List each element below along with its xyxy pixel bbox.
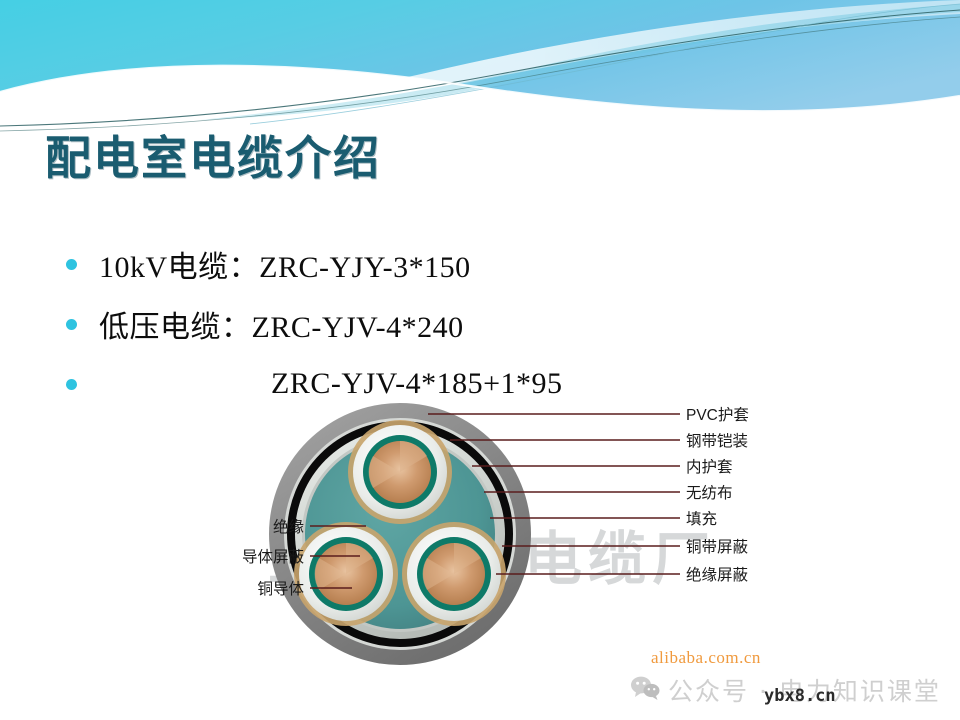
label-pvc-sheath: PVC护套 bbox=[686, 406, 749, 424]
label-copper-tape-shield: 铜带屏蔽 bbox=[686, 538, 749, 556]
list-item: 10kV电缆：ZRC-YJY-3*150 bbox=[66, 234, 726, 294]
slide-canvas: 配电室电缆介绍 10kV电缆：ZRC-YJY-3*150 低压电缆：ZRC-YJ… bbox=[0, 0, 960, 720]
conductor-core-right bbox=[402, 522, 506, 626]
bullet-dot-icon bbox=[66, 319, 77, 330]
label-filler: 填充 bbox=[686, 510, 717, 528]
wechat-icon bbox=[630, 675, 660, 706]
label-inner-sheath: 内护套 bbox=[686, 458, 733, 476]
page-title: 配电室电缆介绍 bbox=[45, 122, 381, 188]
list-item: 低压电缆：ZRC-YJV-4*240 bbox=[66, 294, 726, 354]
conductor-core-top bbox=[348, 420, 452, 524]
site-watermark: ybx8.cn bbox=[764, 686, 836, 706]
bullet-dot-icon bbox=[66, 259, 77, 270]
alibaba-watermark: alibaba.com.cn bbox=[651, 648, 761, 668]
header-banner-decoration bbox=[0, 0, 960, 132]
label-non-woven-fabric: 无纺布 bbox=[686, 484, 733, 502]
bullet-dot-icon bbox=[66, 379, 77, 390]
bullet-text: 低压电缆：ZRC-YJV-4*240 bbox=[99, 302, 464, 346]
label-conductor-shield: 导体屏蔽 bbox=[242, 548, 305, 566]
conductor-core-left bbox=[294, 522, 398, 626]
label-copper-conductor: 铜导体 bbox=[257, 580, 304, 598]
cable-cross-section-diagram: PVC护套 钢带铠装 内护套 无纺布 填充 铜带屏蔽 绝缘屏蔽 绝缘 bbox=[240, 396, 840, 676]
label-steel-tape-armor: 钢带铠装 bbox=[686, 432, 748, 450]
label-insulation: 绝缘 bbox=[273, 518, 304, 536]
label-insulation-shield: 绝缘屏蔽 bbox=[686, 566, 749, 584]
bullet-text: 10kV电缆：ZRC-YJY-3*150 bbox=[99, 242, 471, 286]
bullet-list: 10kV电缆：ZRC-YJY-3*150 低压电缆：ZRC-YJV-4*240 … bbox=[66, 234, 726, 414]
